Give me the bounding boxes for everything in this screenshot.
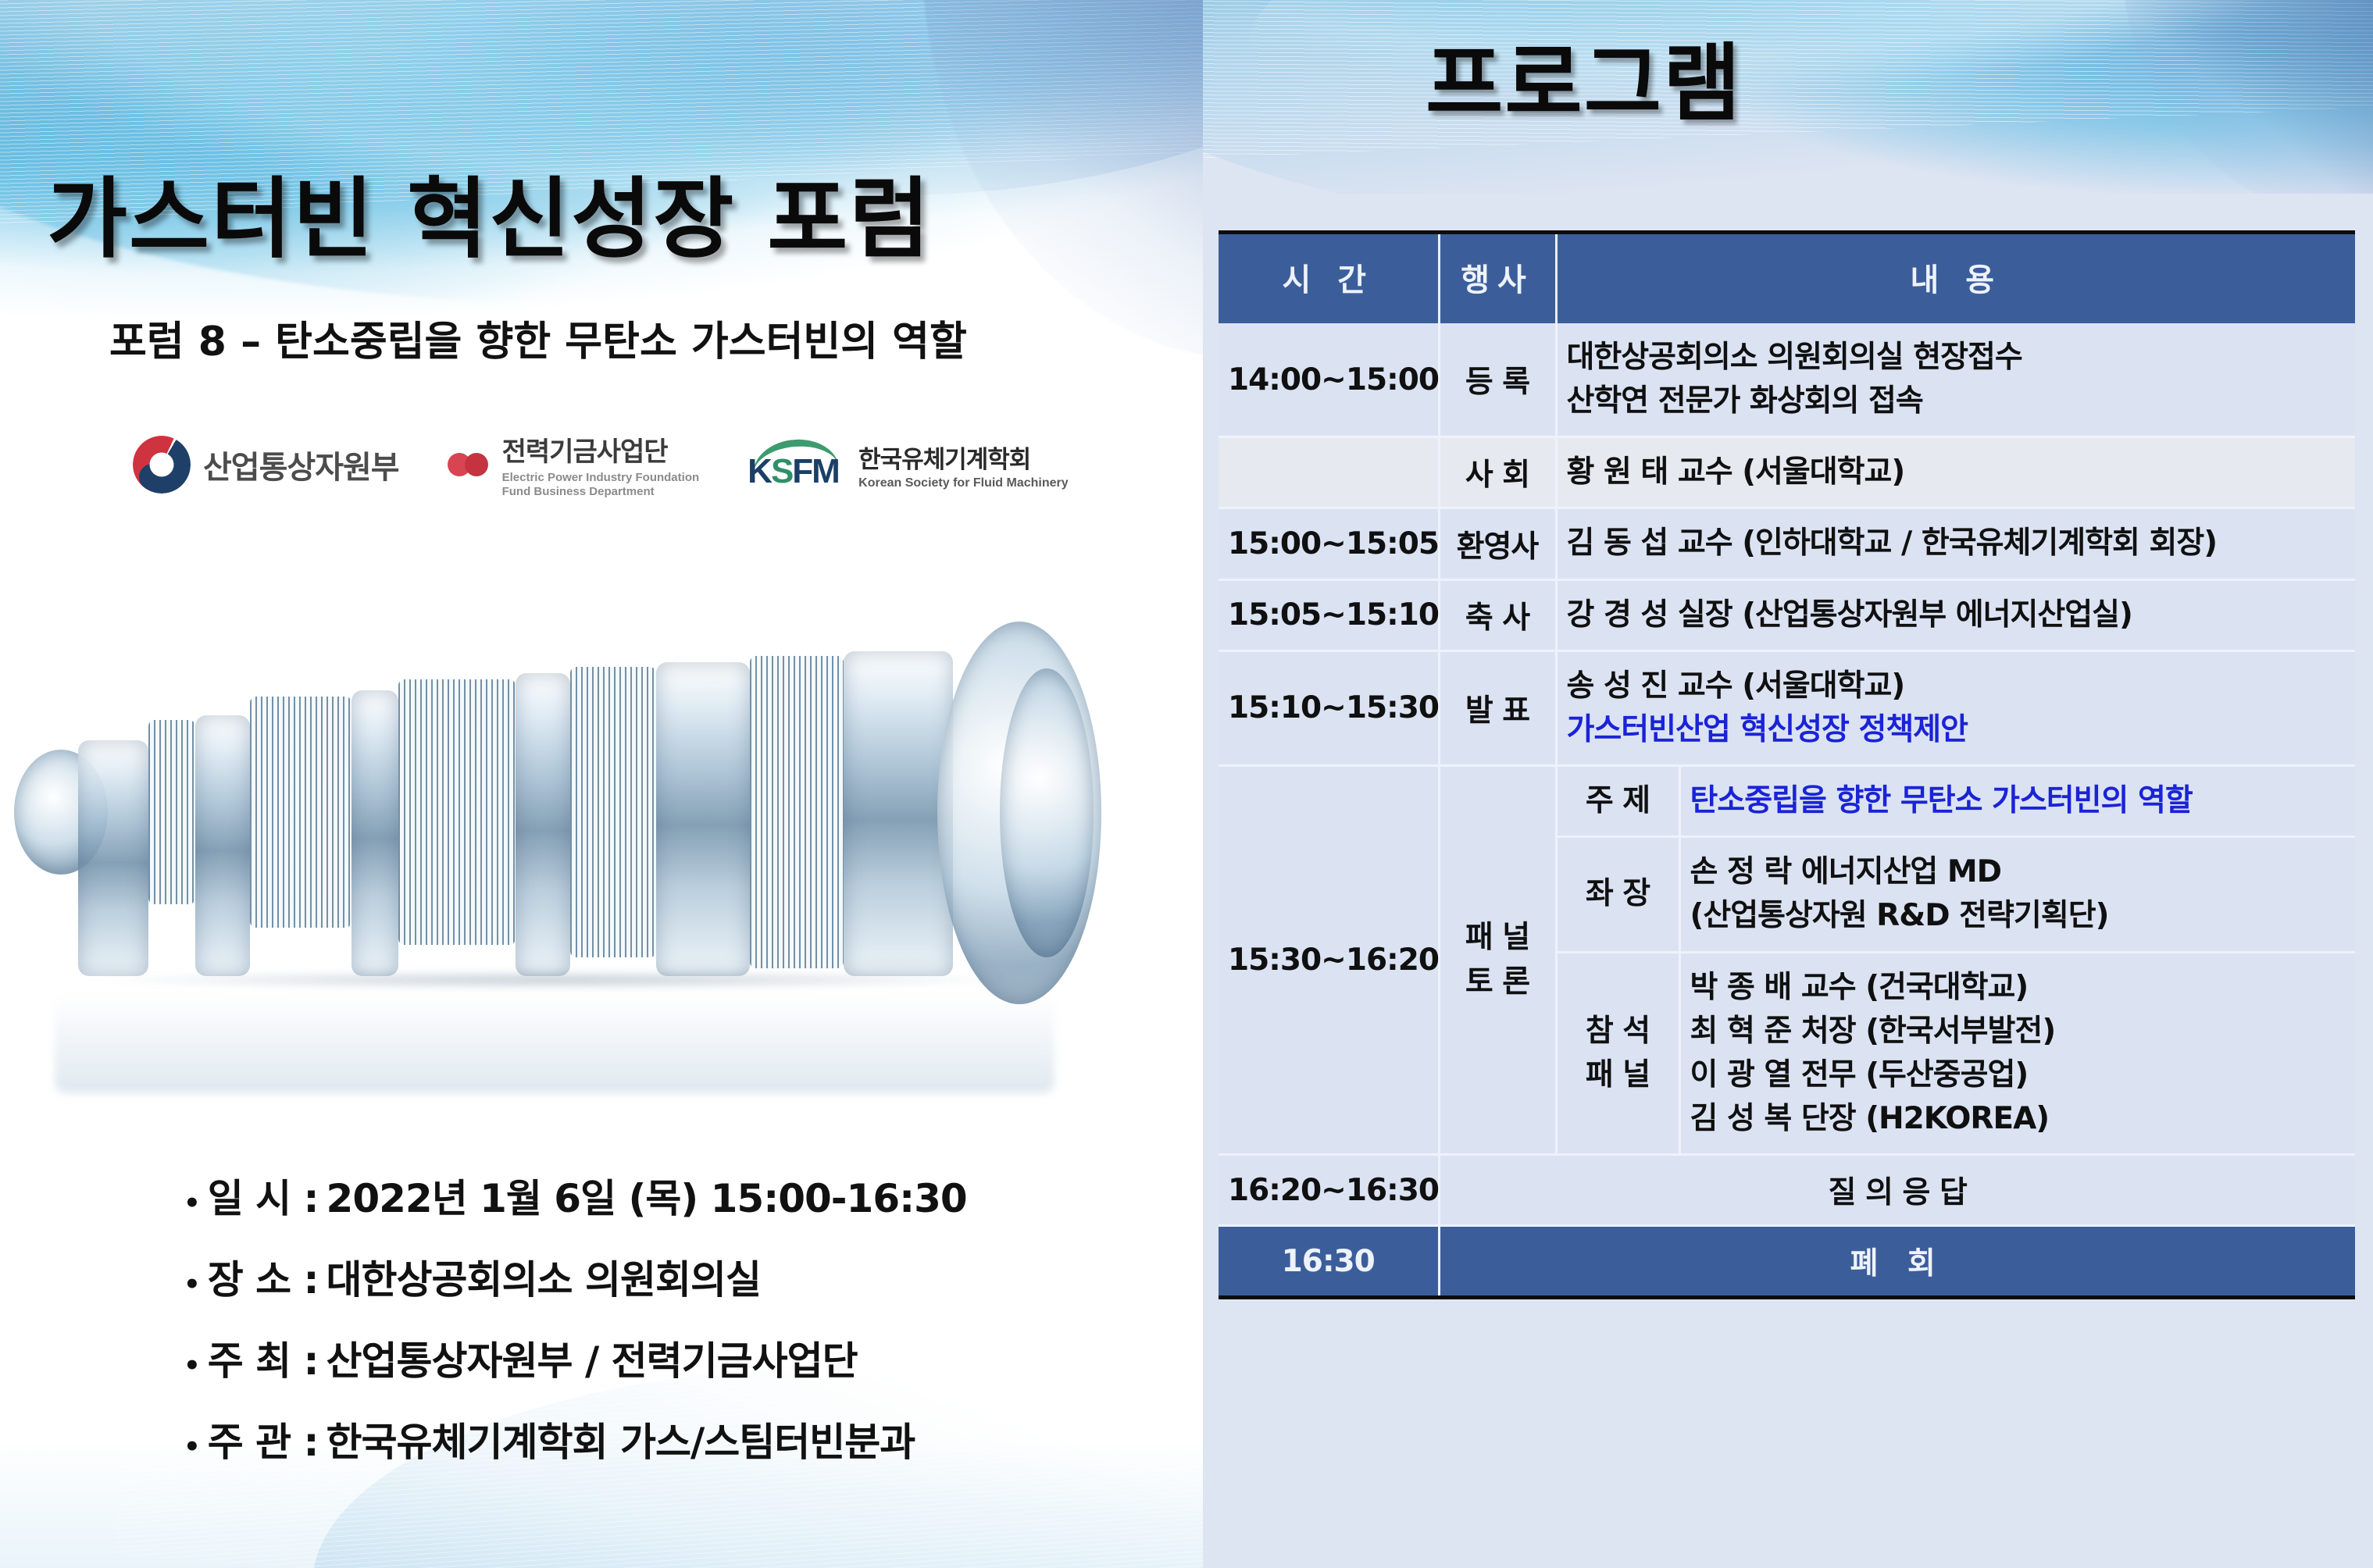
cell-content: 탄소중립을 향한 무탄소 가스터빈의 역할	[1679, 766, 2355, 837]
turbine-body	[55, 648, 1054, 976]
logo-epif: 전력기금사업단 Electric Power Industry Foundati…	[448, 430, 700, 500]
info-item-organizer: • 주 관 : 한국유체기계학회 가스/스팀터빈분과	[184, 1411, 1168, 1467]
column-header-time: 시 간	[1219, 233, 1439, 324]
cell-time: 15:05~15:10	[1219, 579, 1439, 650]
logo-motie: 산업통상자원부	[133, 436, 399, 494]
info-label-date: 일 시 :	[208, 1167, 319, 1224]
content-line: 김 동 섭 교수 (인하대학교 / 한국유체기계학회 회장)	[1567, 522, 2346, 565]
cell-time: 15:10~15:30	[1219, 650, 1439, 765]
cell-content: 질 의 응 답	[1439, 1155, 2355, 1226]
event-info-list: • 일 시 : 2022년 1월 6일 (목) 15:00-16:30 • 장 …	[184, 1167, 1168, 1492]
column-header-event: 행사	[1439, 233, 1556, 324]
cell-subrow-label: 주 제	[1556, 766, 1679, 837]
bullet-icon: •	[184, 1352, 200, 1379]
page-title: 가스터빈 혁신성장 포럼	[47, 148, 1156, 275]
logo-epif-en-line1: Electric Power Industry Foundation	[502, 471, 700, 485]
cell-event: 축 사	[1439, 579, 1556, 650]
content-line: 박 종 배 교수 (건국대학교)	[1690, 966, 2346, 1010]
info-value-organizer: 한국유체기계학회 가스/스팀터빈분과	[327, 1411, 915, 1467]
taegeuk-icon	[133, 436, 191, 494]
table-row: 15:00~15:05 환영사 김 동 섭 교수 (인하대학교 / 한국유체기계…	[1219, 508, 2355, 579]
label-line: 패 널	[1567, 1053, 1669, 1097]
content-line: 김 성 복 단장 (H2KOREA)	[1690, 1097, 2346, 1141]
info-label-host: 주 최 :	[208, 1330, 319, 1386]
cell-time: 15:00~15:05	[1219, 508, 1439, 579]
cell-content: 손 정 락 에너지산업 MD (산업통상자원 R&D 전략기획단)	[1679, 837, 2355, 952]
logo-epif-label-en: Electric Power Industry Foundation Fund …	[502, 471, 700, 500]
content-line: 송 성 진 교수 (서울대학교)	[1567, 665, 2346, 708]
sponsor-logo-strip: 산업통상자원부 전력기금사업단 Electric Power Industry …	[133, 422, 1086, 508]
table-row: 15:05~15:10 축 사 강 경 성 실장 (산업통상자원부 에너지산업실…	[1219, 579, 2355, 650]
poster-root: 가스터빈 혁신성장 포럼 포럼 8 – 탄소중립을 향한 무탄소 가스터빈의 역…	[0, 0, 2373, 1568]
content-line: 대한상공회의소 의원회의실 현장접수	[1567, 336, 2346, 380]
info-item-host: • 주 최 : 산업통상자원부 / 전력기금사업단	[184, 1330, 1168, 1386]
logo-ksfm: KSFM 한국유체기계학회 Korean Society for Fluid M…	[748, 440, 1069, 490]
info-label-organizer: 주 관 :	[208, 1411, 319, 1467]
table-row: 사 회 황 원 태 교수 (서울대학교)	[1219, 437, 2355, 508]
info-item-date: • 일 시 : 2022년 1월 6일 (목) 15:00-16:30	[184, 1167, 1168, 1224]
info-label-venue: 장 소 :	[208, 1249, 319, 1305]
cell-time: 15:30~16:20	[1219, 766, 1439, 1155]
content-line: 산학연 전문가 화상회의 접속	[1567, 380, 2346, 423]
content-line: 황 원 태 교수 (서울대학교)	[1567, 451, 2346, 494]
content-line: (산업통상자원 R&D 전략기획단)	[1690, 894, 2346, 938]
bullet-icon: •	[184, 1271, 200, 1298]
logo-epif-en-line2: Fund Business Department	[502, 485, 700, 499]
program-table-wrapper: 시 간 행사 내 용 14:00~15:00 등 록 대한상공회의소 의원회의실…	[1219, 230, 2355, 1299]
cell-event: 발 표	[1439, 650, 1556, 765]
cell-content: 폐 회	[1439, 1226, 2355, 1298]
cell-subrow-label: 좌 장	[1556, 837, 1679, 952]
program-table: 시 간 행사 내 용 14:00~15:00 등 록 대한상공회의소 의원회의실…	[1219, 230, 2355, 1299]
cell-content: 박 종 배 교수 (건국대학교) 최 혁 준 처장 (한국서부발전) 이 광 열…	[1679, 952, 2355, 1155]
ksfm-swoosh-icon: KSFM	[748, 440, 847, 490]
logo-epif-text: 전력기금사업단 Electric Power Industry Foundati…	[502, 430, 700, 500]
cell-content: 김 동 섭 교수 (인하대학교 / 한국유체기계학회 회장)	[1556, 508, 2355, 579]
content-line: 최 혁 준 처장 (한국서부발전)	[1690, 1010, 2346, 1053]
cell-event: 등 록	[1439, 323, 1556, 437]
info-value-venue: 대한상공회의소 의원회의실	[327, 1249, 761, 1305]
bullet-icon: •	[184, 1190, 200, 1217]
table-row-closing: 16:30 폐 회	[1219, 1226, 2355, 1298]
cell-content: 대한상공회의소 의원회의실 현장접수 산학연 전문가 화상회의 접속	[1556, 323, 2355, 437]
cell-content: 황 원 태 교수 (서울대학교)	[1556, 437, 2355, 508]
epif-circles-icon	[448, 451, 490, 478]
content-line-highlight: 가스터빈산업 혁신성장 정책제안	[1567, 708, 2346, 752]
right-panel: 프로그램 시 간 행사 내 용 14:00~15:00	[1203, 0, 2373, 1568]
event-line: 패 널	[1450, 916, 1546, 960]
cell-event: 패 널 토 론	[1439, 766, 1556, 1155]
cell-content: 송 성 진 교수 (서울대학교) 가스터빈산업 혁신성장 정책제안	[1556, 650, 2355, 765]
cell-content: 강 경 성 실장 (산업통상자원부 에너지산업실)	[1556, 579, 2355, 650]
info-value-date: 2022년 1월 6일 (목) 15:00-16:30	[327, 1167, 967, 1224]
cell-time: 16:20~16:30	[1219, 1155, 1439, 1226]
turbine-reflection	[55, 976, 1054, 1093]
cell-time: 14:00~15:00	[1219, 323, 1439, 437]
gas-turbine-illustration	[8, 539, 1179, 1117]
logo-motie-label: 산업통상자원부	[203, 442, 399, 487]
table-header-row: 시 간 행사 내 용	[1219, 233, 2355, 324]
logo-ksfm-label-ko: 한국유체기계학회	[858, 440, 1069, 475]
label-line: 참 석	[1567, 1010, 1669, 1053]
logo-epif-label-ko: 전력기금사업단	[502, 430, 700, 469]
table-row: 15:10~15:30 발 표 송 성 진 교수 (서울대학교) 가스터빈산업 …	[1219, 650, 2355, 765]
cell-time	[1219, 437, 1439, 508]
cell-time: 16:30	[1219, 1226, 1439, 1298]
logo-ksfm-label-en: Korean Society for Fluid Machinery	[858, 476, 1069, 490]
info-value-host: 산업통상자원부 / 전력기금사업단	[327, 1330, 858, 1386]
table-row: 15:30~16:20 패 널 토 론 주 제 탄소중립을 향한 무탄소 가스터…	[1219, 766, 2355, 837]
bullet-icon: •	[184, 1434, 200, 1460]
program-title: 프로그램	[1426, 16, 1742, 137]
event-line: 토 론	[1450, 960, 1546, 1004]
cell-event: 환영사	[1439, 508, 1556, 579]
content-line: 강 경 성 실장 (산업통상자원부 에너지산업실)	[1567, 593, 2346, 637]
table-row: 14:00~15:00 등 록 대한상공회의소 의원회의실 현장접수 산학연 전…	[1219, 323, 2355, 437]
content-line-highlight: 탄소중립을 향한 무탄소 가스터빈의 역할	[1690, 779, 2346, 823]
page-subtitle: 포럼 8 – 탄소중립을 향한 무탄소 가스터빈의 역할	[109, 308, 1140, 367]
column-header-content: 내 용	[1556, 233, 2355, 324]
table-row: 16:20~16:30 질 의 응 답	[1219, 1155, 2355, 1226]
cell-subrow-label: 참 석 패 널	[1556, 952, 1679, 1155]
content-line: 손 정 락 에너지산업 MD	[1690, 850, 2346, 894]
logo-ksfm-letters: KSFM	[748, 452, 839, 491]
left-panel: 가스터빈 혁신성장 포럼 포럼 8 – 탄소중립을 향한 무탄소 가스터빈의 역…	[0, 0, 1203, 1568]
cell-event: 사 회	[1439, 437, 1556, 508]
logo-ksfm-text: 한국유체기계학회 Korean Society for Fluid Machin…	[858, 440, 1069, 490]
content-line: 이 광 열 전무 (두산중공업)	[1690, 1053, 2346, 1097]
info-item-venue: • 장 소 : 대한상공회의소 의원회의실	[184, 1249, 1168, 1305]
